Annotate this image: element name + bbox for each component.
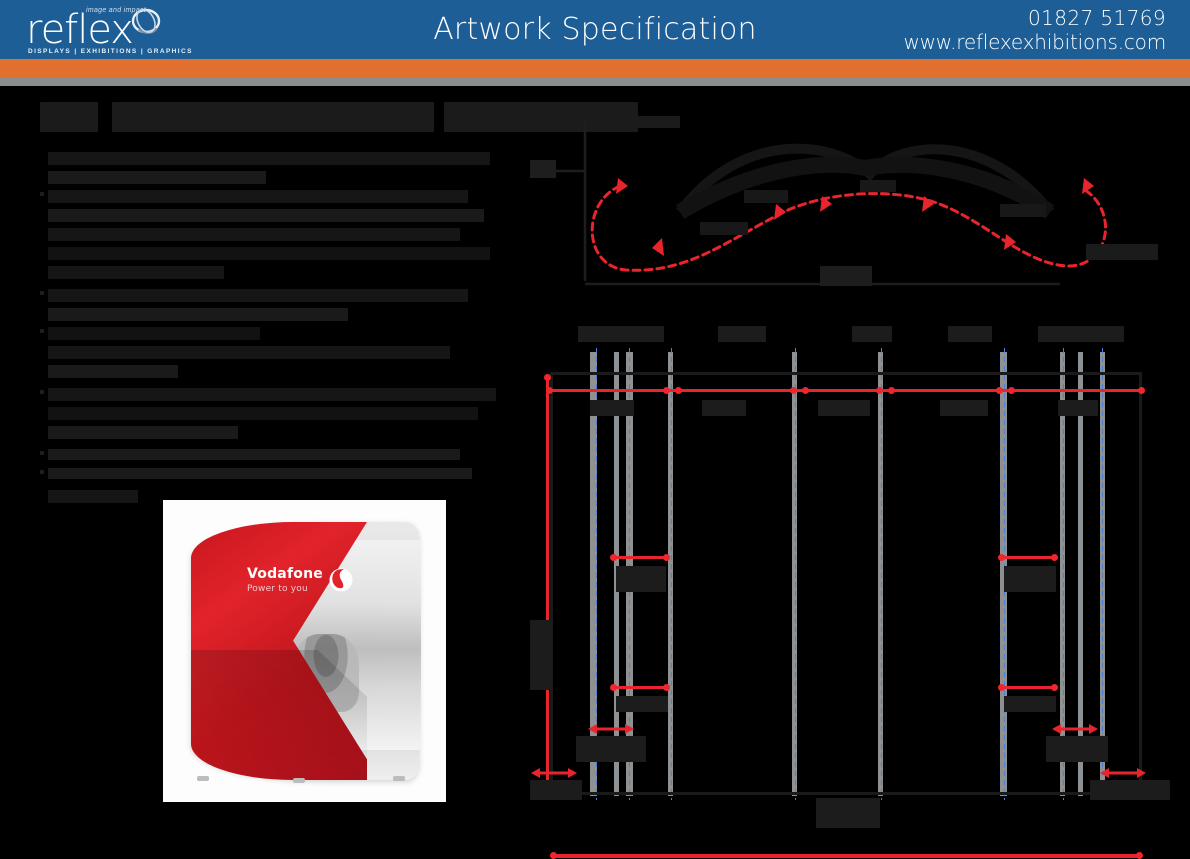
panel-centerline	[1102, 348, 1103, 800]
panel-centerline	[881, 348, 882, 800]
dimension-label	[702, 400, 746, 416]
dimension-label	[616, 696, 668, 712]
accent-band-orange	[0, 59, 1190, 78]
dimension-label	[1046, 736, 1108, 762]
vertical-dimension-line	[546, 376, 549, 794]
overall-width-dimension	[552, 854, 1142, 858]
specification-body-redacted	[40, 152, 510, 508]
document-title-redacted	[40, 98, 510, 138]
page-body: Vodafone Power to you	[0, 86, 1190, 802]
bottom-center-label	[816, 798, 880, 828]
panel-label-3	[852, 326, 892, 342]
artwork-outline-left	[550, 372, 553, 795]
specification-text-column	[40, 98, 510, 514]
vodafone-popup-display-photo: Vodafone Power to you	[163, 500, 446, 802]
artwork-outline-bottom	[550, 792, 1142, 795]
artwork-outline-top	[550, 372, 1142, 375]
artwork-technical-drawing	[530, 86, 1190, 802]
panel-label-4	[948, 326, 992, 342]
logo-disciplines: DISPLAYS | EXHIBITIONS | GRAPHICS	[28, 48, 193, 55]
plan-view-curve	[530, 116, 1190, 316]
small-dimension-arrow	[588, 722, 634, 736]
contact-phone[interactable]: 01827 51769	[903, 6, 1166, 30]
panel-label-2	[718, 326, 766, 342]
display-panel-feet	[197, 776, 413, 784]
vodafone-brand-name: Vodafone	[247, 566, 323, 582]
vodafone-strapline: Power to you	[247, 584, 308, 594]
dimension-label	[1004, 696, 1056, 712]
dimension-label	[576, 736, 646, 762]
dimension-label	[1004, 566, 1056, 592]
panel-centerline	[671, 348, 672, 800]
horizontal-dimension-line	[548, 389, 1144, 392]
artwork-outline-right	[1139, 372, 1142, 795]
dimension-label	[818, 400, 870, 416]
dimension-label	[940, 400, 988, 416]
dimension-label	[1058, 400, 1098, 416]
accent-band-gray	[0, 78, 1190, 86]
contact-website[interactable]: www.reflexexhibitions.com	[903, 30, 1166, 55]
small-dimension-arrow	[1100, 766, 1146, 780]
dimension-label	[530, 780, 582, 800]
dimension-label	[590, 400, 634, 416]
panel-label-5	[1038, 326, 1124, 342]
dimension-label	[1090, 780, 1170, 800]
panel-centerline	[795, 348, 796, 800]
dimension-label	[616, 566, 666, 592]
small-dimension-arrow	[531, 766, 577, 780]
contact-block: 01827 51769 www.reflexexhibitions.com	[903, 6, 1166, 55]
page-header: reflex image and impact DISPLAYS | EXHIB…	[0, 0, 1190, 59]
small-dimension-arrow	[1052, 722, 1098, 736]
panel-label-1	[578, 326, 664, 342]
vertical-dimension-label	[530, 620, 552, 690]
vodafone-speechmark-icon	[329, 564, 353, 594]
